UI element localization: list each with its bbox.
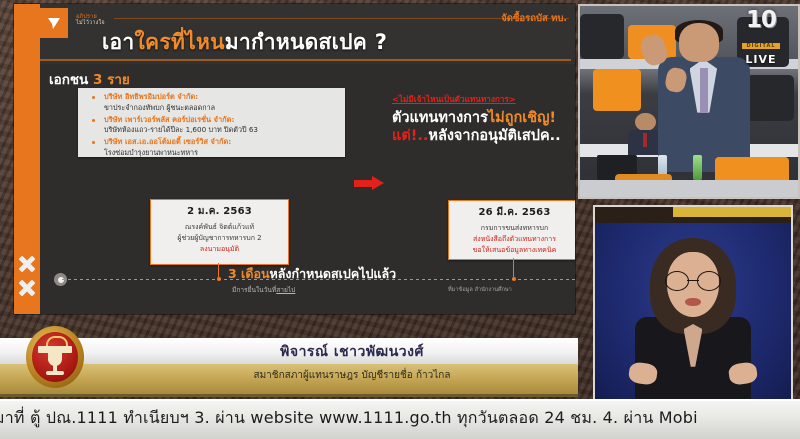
broadcast-screen: อภิปราย ไม่ไว้วางใจ จัดซื้อรถบัส ทบ. เอา… xyxy=(0,0,800,439)
live-badge: LIVE xyxy=(732,53,790,66)
card-stem xyxy=(218,263,219,280)
parliament-emblem-icon xyxy=(26,326,84,388)
card-line: ผู้ช่วยผู้บัญชาการทหารบก 2 xyxy=(151,233,288,244)
x-mark-icon xyxy=(18,255,36,273)
gap-text: หลังกำหนดสเปคไปแล้ว xyxy=(270,266,397,281)
card-date: 26 มี.ค. 2563 xyxy=(449,205,575,220)
section-heading: เอกชน 3 ราย xyxy=(49,68,130,90)
channel-10-bug: 10 DIGITAL LIVE xyxy=(732,10,790,66)
list-item: บริษัท อิทธิพรอิมปอร์ต จำกัด: ขาประจำกอง… xyxy=(84,92,339,114)
title-part-1: เอา xyxy=(102,30,134,54)
title-part-2: มากำหนดสเปค ? xyxy=(225,30,387,54)
program-name: อภิปราย ไม่ไว้วางใจ xyxy=(76,14,105,26)
section-heading-label: เอกชน xyxy=(49,72,88,88)
card-date: 2 ม.ค. 2563 xyxy=(151,204,288,219)
glasses-icon xyxy=(665,271,721,289)
x-mark-icon xyxy=(18,279,36,297)
callout-line-1-highlight: ไม่ถูกเชิญ! xyxy=(488,110,556,126)
interpreter xyxy=(646,238,740,403)
card-highlight-line: ส่งหนังสือถึงตัวแทนทางการ xyxy=(449,234,575,245)
card-highlight-line: ลงนามอนุมัติ xyxy=(151,244,288,255)
gap-label: 3 เดือนหลังกำหนดสเปคไปแล้ว xyxy=(228,264,396,284)
callout-line-2-highlight: แต่!.. xyxy=(392,128,428,144)
callout-line-1-plain: ตัวแทนทางการ xyxy=(392,110,488,126)
timeline-card: 26 มี.ค. 2563 กรมการขนส่งทหารบก ส่งหนังส… xyxy=(448,200,575,260)
company-list-box: บริษัท อิทธิพรอิมปอร์ต จำกัด: ขาประจำกอง… xyxy=(78,88,345,157)
digital-label: DIGITAL xyxy=(742,43,779,49)
callout-line-1: ตัวแทนทางการไม่ถูกเชิญ! xyxy=(392,109,575,127)
callout-line-2-plain: หลังจากอนุมัติเสปค.. xyxy=(428,128,560,144)
infographic-panel: อภิปราย ไม่ไว้วางใจ จัดซื้อรถบัส ทบ. เอา… xyxy=(14,4,575,314)
orange-side-bar xyxy=(14,4,40,314)
card-highlight-line: ขอให้เสนอข้อมูลทางเทคนิค xyxy=(449,245,575,256)
callout-note: <ไม่มีเจ้าไหนเป็นตัวแทนทางการ> xyxy=(392,93,575,106)
timeline-card: 2 ม.ค. 2563 ณรงค์พันธ์ จิตต์แก้วแท้ ผู้ช… xyxy=(150,199,289,265)
news-ticker: มาที่ ตู้ ปณ.1111 ทำเนียบฯ 3. ผ่าน websi… xyxy=(0,399,800,439)
page-title: เอาใครที่ไหนมากำหนดสเปค ? xyxy=(102,26,387,59)
sub-note-plain: มีการยื่นในวันที่ xyxy=(232,286,276,294)
green-bottle xyxy=(693,155,702,180)
company-detail: โรงซ่อมบำรุงยานพาหนะทหาร xyxy=(104,148,339,159)
list-item: บริษัท เอส.เอ.ออโต้มอตี้ เซอร์วิส จำกัด:… xyxy=(84,137,339,159)
gap-number: 3 เดือน xyxy=(228,266,270,281)
channel-7-logo-icon xyxy=(40,8,68,38)
source-credit: ที่มาข้อมูล สำนักงานศึกษา xyxy=(448,286,512,294)
ticker-text: มาที่ ตู้ ปณ.1111 ทำเนียบฯ 3. ผ่าน websi… xyxy=(0,406,698,431)
callout-block: <ไม่มีเจ้าไหนเป็นตัวแทนทางการ> ตัวแทนทาง… xyxy=(392,93,575,145)
graphic-body: เอกชน 3 ราย บริษัท อิทธิพรอิมปอร์ต จำกัด… xyxy=(40,64,575,314)
speaker-role: สมาชิกสภาผู้แทนราษฎร บัญชีรายชื่อ ก้าวไก… xyxy=(140,368,564,383)
company-list: บริษัท อิทธิพรอิมปอร์ต จำกัด: ขาประจำกอง… xyxy=(78,88,345,159)
program-line-2: ไม่ไว้วางใจ xyxy=(76,20,105,26)
company-name: บริษัท อิทธิพรอิมปอร์ต จำกัด: xyxy=(104,92,339,103)
card-line: กรมการขนส่งทหารบก xyxy=(449,223,575,234)
section-heading-count: 3 ราย xyxy=(93,72,130,88)
lower-third-name-bar: พิจารณ์ เชาวพัฒนวงศ์ สมาชิกสภาผู้แทนราษฎ… xyxy=(0,338,578,400)
company-name: บริษัท เพาร์เวอร์พลัส คอร์ปอเรชั่น จำกัด… xyxy=(104,115,339,126)
list-item: บริษัท เพาร์เวอร์พลัส คอร์ปอเรชั่น จำกัด… xyxy=(84,115,339,137)
topic-kicker: จัดซื้อรถบัส ทบ. xyxy=(501,11,567,26)
live-video-parliament: 10 DIGITAL LIVE xyxy=(578,4,800,199)
card-stem xyxy=(513,258,514,280)
speaker-name: พิจารณ์ เชาวพัฒนวงศ์ xyxy=(140,341,564,363)
callout-line-2: แต่!..หลังจากอนุมัติเสปค.. xyxy=(392,127,575,145)
title-underline xyxy=(40,59,571,61)
sign-language-interpreter-video xyxy=(593,205,793,405)
company-name: บริษัท เอส.เอ.ออโต้มอตี้ เซอร์วิส จำกัด: xyxy=(104,137,339,148)
sub-note: มีการยื่นในวันที่สายไป xyxy=(232,284,295,295)
channel-number: 10 xyxy=(732,10,790,32)
red-arrow-icon xyxy=(354,176,384,189)
sub-note-underline: สายไป xyxy=(276,286,295,294)
card-line: ณรงค์พันธ์ จิตต์แก้วแท้ xyxy=(151,222,288,233)
company-detail: ขาประจำกองทัพบก ผู้ชนะตลอดกาล xyxy=(104,103,339,114)
company-detail: บริษัทห้องแถว-รายได้ปีละ 1,600 บาท ปิดตั… xyxy=(104,125,339,136)
title-highlight: ใครที่ไหน xyxy=(134,30,224,54)
